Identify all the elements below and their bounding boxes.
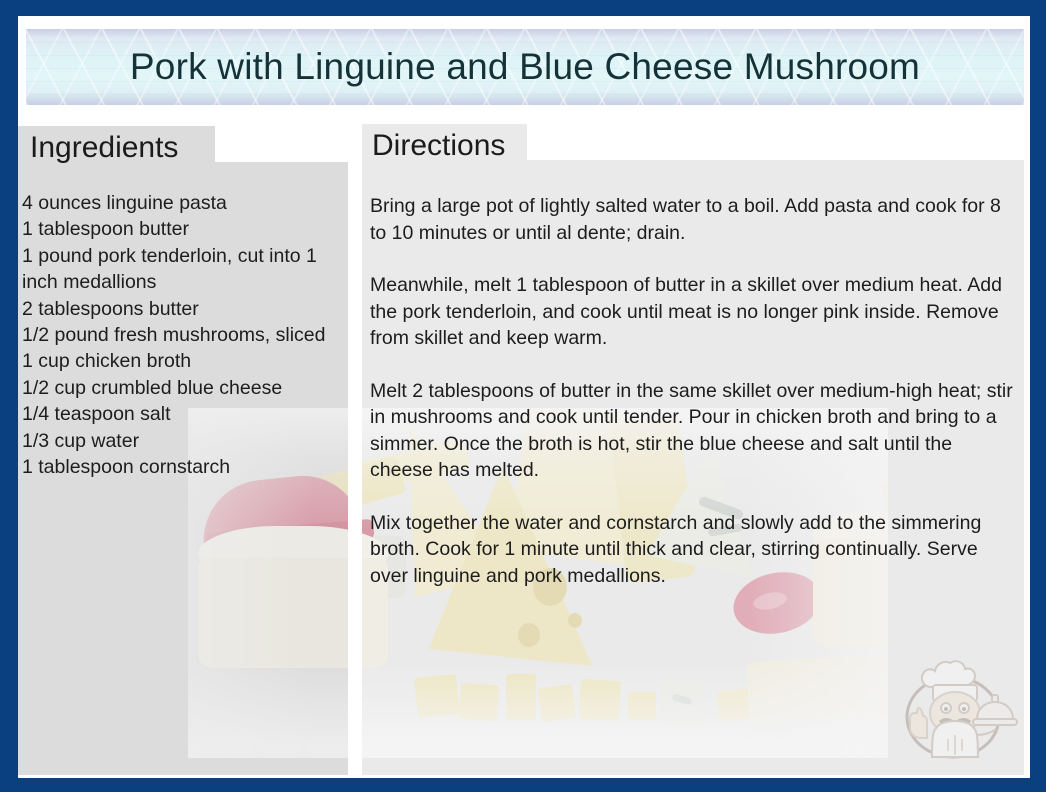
directions-heading: Directions: [362, 124, 527, 168]
direction-step: Meanwhile, melt 1 tablespoon of butter i…: [370, 272, 1020, 352]
ingredient-item: 1 tablespoon butter: [22, 216, 344, 242]
ingredients-list: 4 ounces linguine pasta 1 tablespoon but…: [22, 190, 344, 480]
recipe-title: Pork with Linguine and Blue Cheese Mushr…: [26, 46, 1024, 88]
directions-body: Bring a large pot of lightly salted wate…: [370, 193, 1020, 589]
direction-step: Bring a large pot of lightly salted wate…: [370, 193, 1020, 246]
ingredient-item: 1 pound pork tenderloin, cut into 1 inch…: [22, 243, 344, 296]
recipe-card: Pork with Linguine and Blue Cheese Mushr…: [0, 0, 1046, 792]
ingredients-heading: Ingredients: [18, 126, 215, 170]
ingredient-item: 1/4 teaspoon salt: [22, 401, 344, 427]
column-divider: [348, 160, 362, 775]
directions-heading-label: Directions: [372, 129, 505, 163]
title-banner: Pork with Linguine and Blue Cheese Mushr…: [26, 29, 1024, 105]
direction-step: Mix together the water and cornstarch an…: [370, 510, 1020, 590]
ingredient-item: 1/2 cup crumbled blue cheese: [22, 375, 344, 401]
ingredient-item: 2 tablespoons butter: [22, 296, 344, 322]
ingredient-item: 1 tablespoon cornstarch: [22, 454, 344, 480]
ingredient-item: 4 ounces linguine pasta: [22, 190, 344, 216]
chef-with-cloche-logo: [893, 643, 1021, 773]
ingredients-heading-label: Ingredients: [30, 131, 178, 165]
direction-step: Melt 2 tablespoons of butter in the same…: [370, 378, 1020, 484]
ingredient-item: 1/3 cup water: [22, 428, 344, 454]
ingredient-item: 1 cup chicken broth: [22, 348, 344, 374]
ingredient-item: 1/2 pound fresh mushrooms, sliced: [22, 322, 344, 348]
